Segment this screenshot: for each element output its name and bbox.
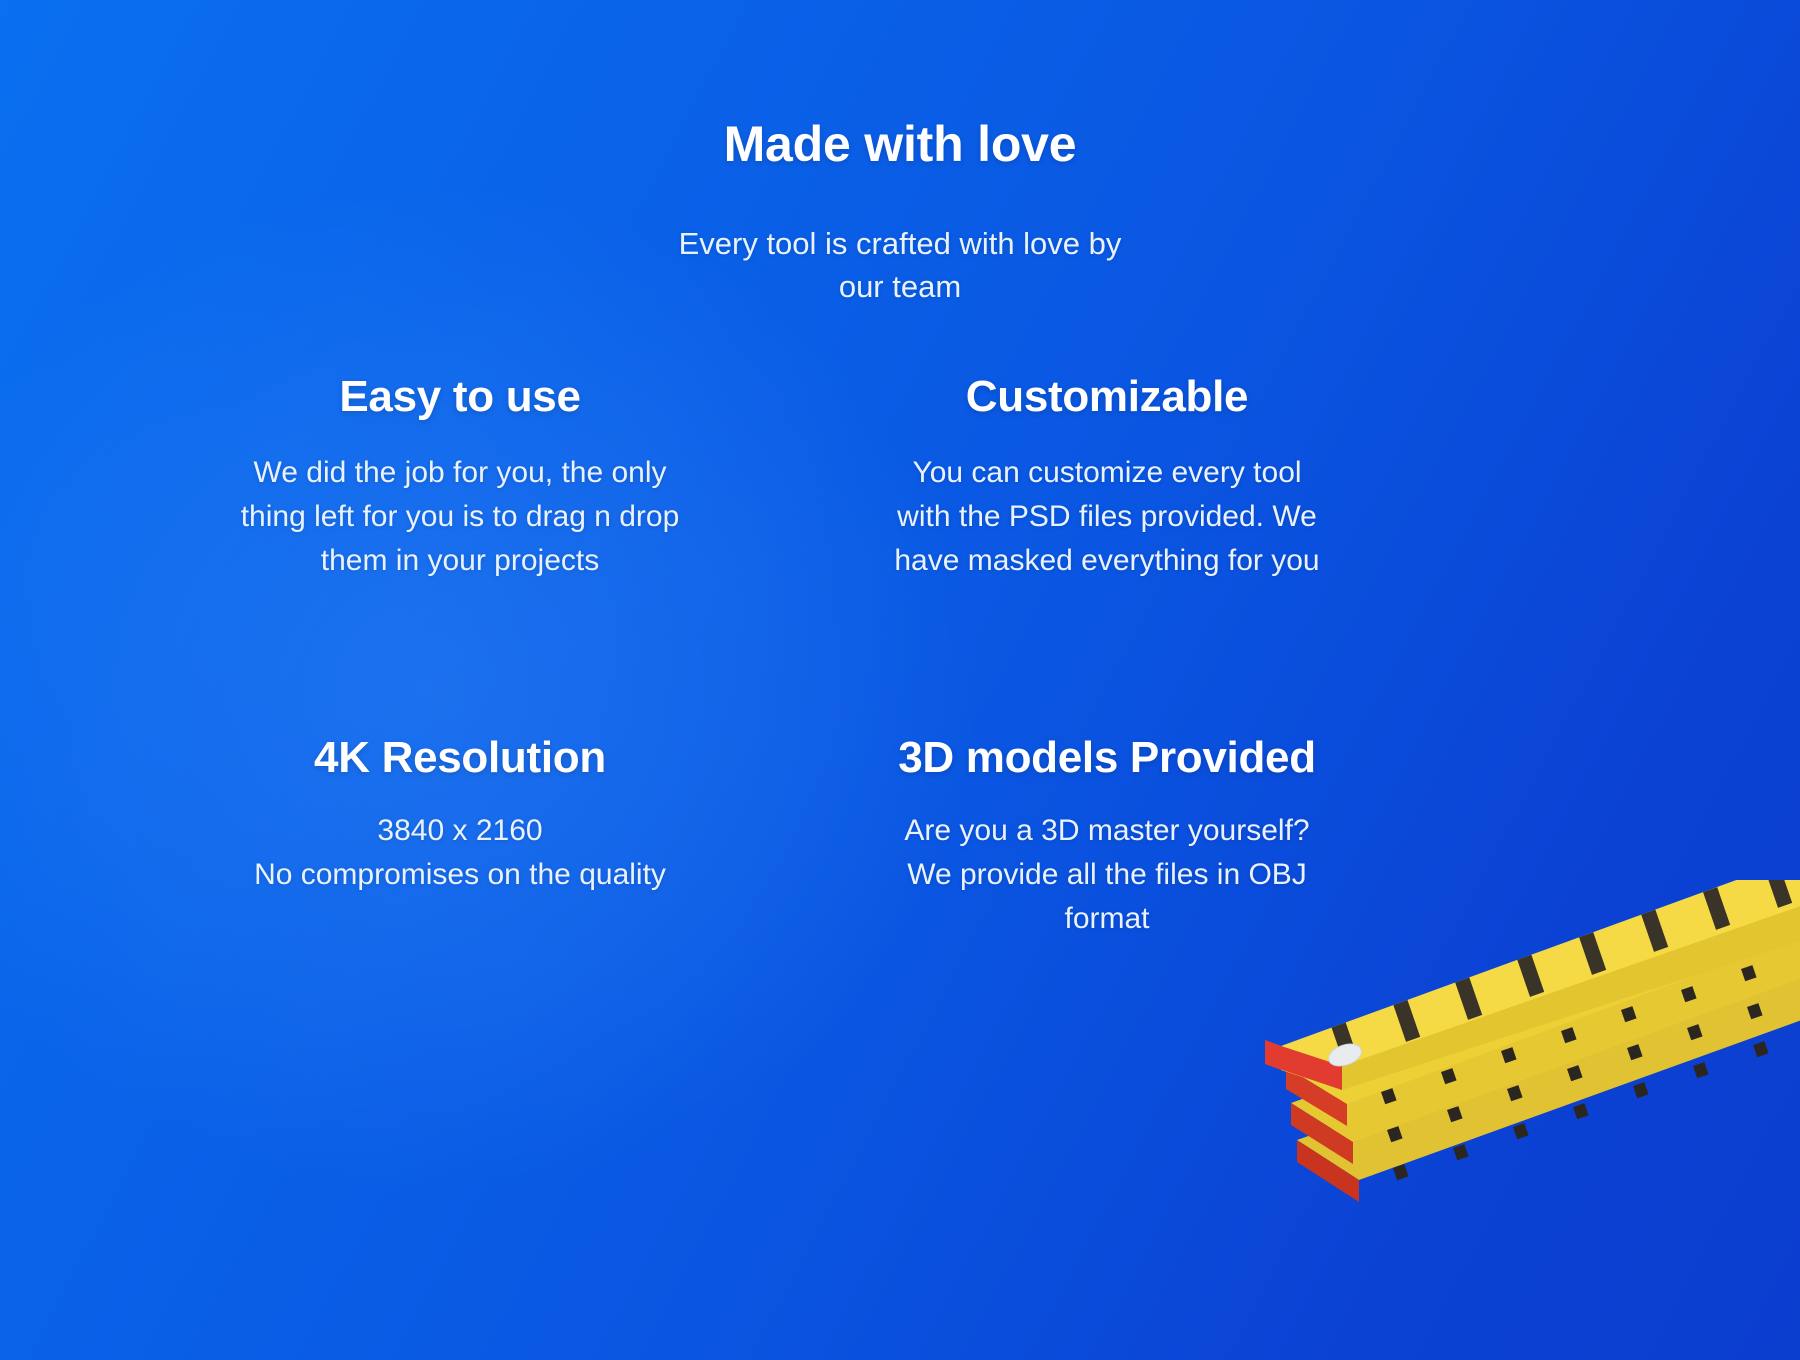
- feature-title: Customizable: [797, 372, 1417, 421]
- feature-title: Easy to use: [150, 372, 770, 421]
- feature-card-easy-to-use: Easy to use We did the job for you, the …: [150, 372, 770, 583]
- feature-card-4k-resolution: 4K Resolution 3840 x 2160 No compromises…: [150, 733, 770, 897]
- feature-card-3d-models-provided: 3D models Provided Are you a 3D master y…: [797, 733, 1417, 941]
- feature-body: We did the job for you, the only thing l…: [150, 451, 770, 582]
- page-subtitle: Every tool is crafted with love by our t…: [580, 222, 1220, 309]
- feature-body: Are you a 3D master yourself? We provide…: [797, 809, 1417, 940]
- page-title: Made with love: [0, 118, 1800, 171]
- ruler-segment-3: [1291, 908, 1800, 1164]
- feature-card-customizable: Customizable You can customize every too…: [797, 372, 1417, 583]
- feature-body: 3840 x 2160 No compromises on the qualit…: [150, 809, 770, 897]
- slide-canvas: Made with love Every tool is crafted wit…: [0, 0, 1800, 1360]
- feature-title: 4K Resolution: [150, 733, 770, 782]
- folding-ruler-icon: [1235, 880, 1800, 1360]
- feature-body: You can customize every tool with the PS…: [797, 451, 1417, 582]
- feature-title: 3D models Provided: [797, 733, 1417, 782]
- ruler-segment-4: [1297, 950, 1800, 1202]
